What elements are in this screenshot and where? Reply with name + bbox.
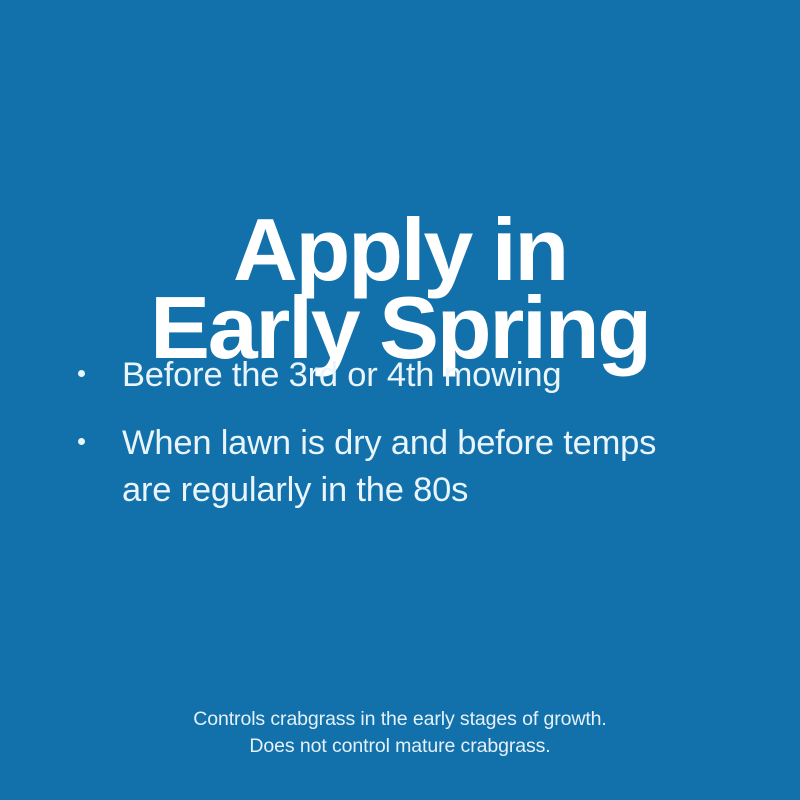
promo-poster: Apply in Early Spring Before the 3rd or …	[0, 0, 800, 800]
list-item-label: When lawn is dry and before temps are re…	[88, 420, 712, 514]
bullet-dot-icon	[78, 370, 88, 377]
list-item: Before the 3rd or 4th mowing	[78, 352, 728, 399]
page-title: Apply in Early Spring	[0, 211, 800, 367]
footer-note-line-1: Controls crabgrass in the early stages o…	[0, 706, 800, 733]
footer-note-line-2: Does not control mature crabgrass.	[0, 733, 800, 760]
bullet-list: Before the 3rd or 4th mowing When lawn i…	[78, 352, 728, 514]
list-item-label: Before the 3rd or 4th mowing	[88, 352, 712, 399]
list-item: When lawn is dry and before temps are re…	[78, 420, 728, 514]
footer-note: Controls crabgrass in the early stages o…	[0, 706, 800, 760]
bullet-dot-icon	[78, 438, 88, 445]
